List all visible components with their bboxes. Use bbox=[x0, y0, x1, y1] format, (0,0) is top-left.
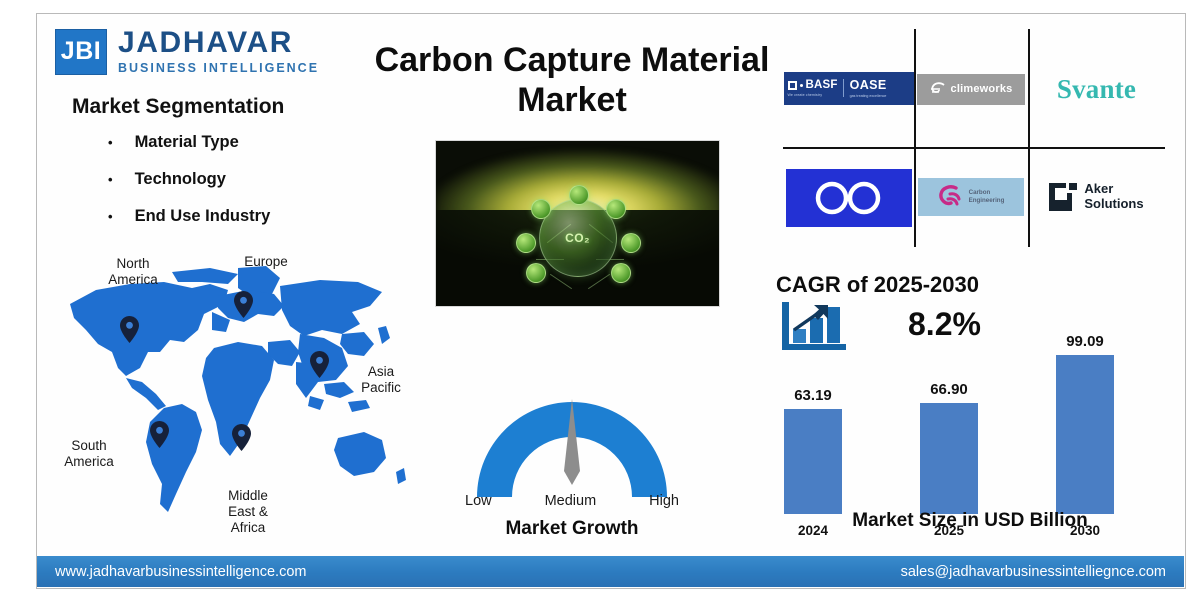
bar-group-2030: 99.09 2030 bbox=[1056, 344, 1114, 514]
logo-label-oase: OASE bbox=[850, 78, 887, 92]
logo-aker-solutions: Aker Solutions bbox=[1028, 173, 1165, 221]
logo-sub-basf: We create chemistry bbox=[788, 93, 838, 97]
eco-icon-left bbox=[516, 233, 536, 253]
eco-icon-right bbox=[621, 233, 641, 253]
logo-climeworks: climeworks bbox=[914, 69, 1028, 109]
logo-svante: Svante bbox=[1028, 67, 1165, 111]
map-label-north-america: North America bbox=[92, 256, 174, 288]
eco-icon-top bbox=[569, 185, 589, 205]
segmentation-list: • Material Type • Technology • End Use I… bbox=[108, 133, 270, 244]
gauge-label-low: Low bbox=[465, 493, 492, 509]
logo-label-carbon-engineering-line1: Carbon bbox=[969, 189, 1005, 197]
map-pin-south-america bbox=[150, 421, 169, 448]
bullet-icon: • bbox=[108, 210, 113, 223]
map-pin-middle-east-africa bbox=[232, 424, 251, 451]
bullet-icon: • bbox=[108, 173, 113, 186]
eco-icon-lower-left bbox=[526, 263, 546, 283]
segmentation-item-label: Material Type bbox=[135, 133, 239, 152]
cagr-title: CAGR of 2025-2030 bbox=[776, 272, 979, 298]
bar-value-2030: 99.09 bbox=[1056, 333, 1114, 350]
bar-value-2025: 66.90 bbox=[920, 381, 978, 398]
logo-label-aker-line2: Solutions bbox=[1084, 197, 1143, 212]
logo-sub-oase: gas treating excellence bbox=[850, 94, 887, 98]
eco-icon-upper-left bbox=[531, 199, 551, 219]
market-growth-gauge: Low Medium High Market Growth bbox=[447, 385, 697, 545]
bar-group-2025: 66.90 2025 bbox=[920, 384, 978, 514]
page-title: Carbon Capture Material Market bbox=[332, 40, 812, 120]
list-item: • Material Type bbox=[108, 133, 270, 152]
logo-label-carbon-engineering-line2: Engineering bbox=[969, 197, 1005, 205]
list-item: • End Use Industry bbox=[108, 207, 270, 226]
brand-tagline: BUSINESS INTELLIGENCE bbox=[118, 61, 319, 75]
aker-mark-icon bbox=[1049, 183, 1077, 211]
logo-label-basf: BASF bbox=[806, 79, 838, 91]
eco-icon-lower-right bbox=[611, 263, 631, 283]
gauge-title: Market Growth bbox=[447, 518, 697, 540]
gauge-label-medium: Medium bbox=[545, 493, 597, 509]
grid-divider-horizontal bbox=[783, 147, 1165, 149]
bar-rect-2025 bbox=[920, 403, 978, 514]
map-label-asia-pacific: Asia Pacific bbox=[352, 364, 410, 396]
bar-chart-title: Market Size in USD Billion bbox=[770, 510, 1170, 532]
brand-logo: JBI JADHAVAR BUSINESS INTELLIGENCE bbox=[55, 28, 319, 75]
eco-icon-upper-right bbox=[606, 199, 626, 219]
bar-rect-2030 bbox=[1056, 355, 1114, 514]
footer-website[interactable]: www.jadhavarbusinessintelligence.com bbox=[55, 564, 306, 580]
bar-group-2024: 63.19 2024 bbox=[784, 384, 842, 514]
map-label-europe: Europe bbox=[230, 254, 302, 270]
gauge-label-high: High bbox=[649, 493, 679, 509]
cagr-value: 8.2% bbox=[908, 306, 981, 343]
hero-image: CO₂ bbox=[435, 140, 720, 307]
footer-email[interactable]: sales@jadhavarbusinessintelliegnce.com bbox=[901, 564, 1166, 580]
world-map: North America Europe Asia Pacific South … bbox=[52, 256, 432, 541]
brand-name: JADHAVAR bbox=[118, 28, 319, 58]
bar-value-2024: 63.19 bbox=[784, 387, 842, 404]
carbon-engineering-mark-icon bbox=[938, 185, 964, 209]
logo-basf-oase: BASF We create chemistry OASE gas treati… bbox=[783, 67, 914, 109]
logo-label-climeworks: climeworks bbox=[951, 83, 1013, 95]
company-logo-grid: BASF We create chemistry OASE gas treati… bbox=[783, 25, 1165, 250]
map-pin-europe bbox=[234, 291, 253, 318]
co-infinity-icon bbox=[806, 179, 892, 217]
jbi-logo-text: JBI bbox=[61, 37, 101, 66]
co2-label: CO₂ bbox=[565, 231, 590, 245]
bar-rect-2024 bbox=[784, 409, 842, 514]
logo-label-aker-line1: Aker bbox=[1084, 182, 1143, 197]
gauge-scale-labels: Low Medium High bbox=[447, 493, 697, 509]
logo-label-svante: Svante bbox=[1057, 74, 1136, 105]
segmentation-item-label: End Use Industry bbox=[135, 207, 271, 226]
logo-co bbox=[783, 165, 914, 231]
basf-square-icon bbox=[788, 81, 797, 90]
bullet-icon: • bbox=[108, 136, 113, 149]
climeworks-swirl-icon bbox=[930, 82, 946, 96]
segmentation-heading: Market Segmentation bbox=[72, 95, 284, 119]
infographic-canvas: JBI JADHAVAR BUSINESS INTELLIGENCE Marke… bbox=[0, 0, 1200, 600]
footer-bar: www.jadhavarbusinessintelligence.com sal… bbox=[37, 556, 1184, 587]
jbi-logo-mark: JBI bbox=[55, 29, 107, 75]
map-label-middle-east-africa: Middle East & Africa bbox=[217, 488, 279, 536]
map-pin-north-america bbox=[120, 316, 139, 343]
list-item: • Technology bbox=[108, 170, 270, 189]
map-label-south-america: South America bbox=[54, 438, 124, 470]
map-pin-asia-pacific bbox=[310, 351, 329, 378]
gauge-svg bbox=[447, 385, 697, 505]
basf-dot-icon bbox=[800, 84, 803, 87]
logo-carbon-engineering: Carbon Engineering bbox=[914, 173, 1028, 221]
segmentation-item-label: Technology bbox=[135, 170, 226, 189]
